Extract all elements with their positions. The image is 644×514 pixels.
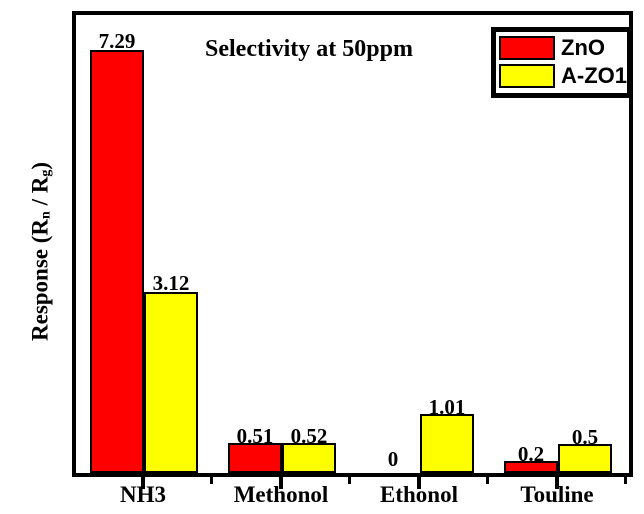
value-label-azo1-nh3: 3.12 — [153, 271, 190, 296]
y-axis-title-suffix: ) — [28, 162, 53, 170]
value-label-azo1-ethonol: 1.01 — [429, 395, 466, 420]
x-tick-minor-4 — [624, 477, 627, 484]
y-axis-title-middle: / R — [28, 177, 53, 212]
x-tick-label-nh3: NH3 — [120, 482, 166, 508]
y-axis-title-sub-n: n — [39, 211, 54, 219]
y-axis-title-sub-g: g — [39, 170, 54, 177]
legend-swatch-azo1 — [499, 64, 555, 88]
x-tick-minor-1 — [210, 477, 213, 484]
value-label-zno-touline: 0.2 — [518, 442, 544, 467]
x-tick-minor-2 — [348, 477, 351, 484]
legend-label-azo1: A-ZO1 — [561, 65, 627, 87]
bar-azo1-ethonol[interactable] — [420, 414, 474, 473]
selectivity-bar-chart: Response (Rn / Rg) 8 7 6 5 4 3 2 1 0 — [0, 0, 644, 514]
bar-zno-nh3[interactable] — [90, 50, 144, 473]
legend-label-zno: ZnO — [561, 37, 605, 59]
value-label-zno-ethonol: 0 — [388, 447, 399, 472]
legend-swatch-zno — [499, 36, 555, 60]
y-axis-title-prefix: Response (R — [28, 219, 53, 341]
chart-title: Selectivity at 50ppm — [205, 36, 413, 63]
x-tick-minor-3 — [486, 477, 489, 484]
bar-azo1-nh3[interactable] — [144, 292, 198, 473]
value-label-zno-nh3: 7.29 — [99, 29, 136, 54]
x-tick-label-methonol: Methonol — [234, 482, 329, 508]
legend: ZnO A-ZO1 — [491, 27, 632, 98]
x-tick-label-touline: Touline — [520, 482, 593, 508]
y-axis-title: Response (Rn / Rg) — [28, 82, 55, 422]
legend-item-zno[interactable]: ZnO — [499, 34, 624, 62]
x-tick-label-ethonol: Ethonol — [380, 482, 458, 508]
legend-item-azo1[interactable]: A-ZO1 — [499, 62, 624, 90]
value-label-zno-methonol: 0.51 — [237, 424, 274, 449]
value-label-azo1-methonol: 0.52 — [291, 424, 328, 449]
value-label-azo1-touline: 0.5 — [572, 425, 598, 450]
